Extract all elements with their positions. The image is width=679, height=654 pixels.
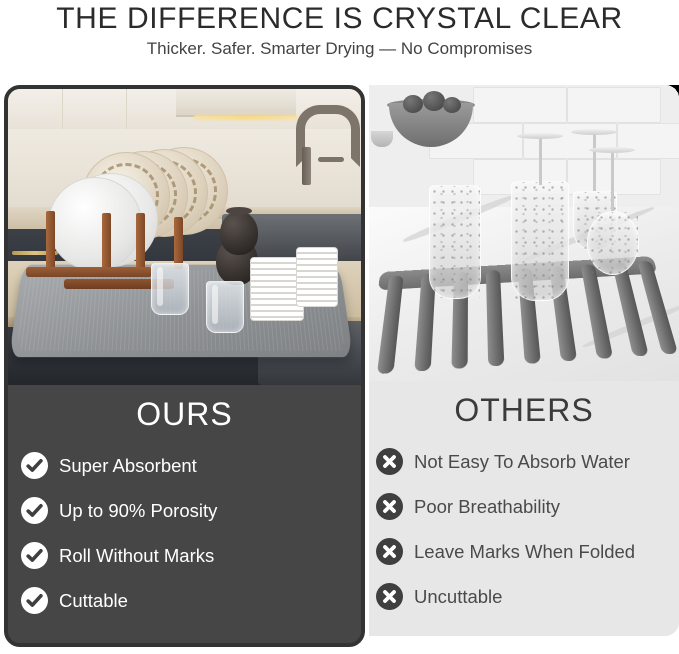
x-circle-icon (376, 538, 403, 565)
water-droplets (430, 186, 480, 298)
check-circle-icon (21, 452, 48, 479)
water-droplets (512, 182, 568, 300)
glass-foot (571, 129, 617, 135)
fruit (423, 91, 445, 111)
ours-panel: OURS Super Absorbent (4, 85, 365, 647)
others-feature-label: Leave Marks When Folded (414, 541, 635, 563)
drinking-glass (151, 263, 189, 315)
subway-tile (567, 87, 661, 123)
glass-foot (517, 133, 563, 139)
rack-post (174, 217, 183, 269)
subway-tile (617, 123, 679, 159)
glass-foot (589, 147, 635, 153)
others-feature-item: Not Easy To Absorb Water (369, 439, 679, 484)
others-label-block: OTHERS Not Easy To Absorb Water (369, 381, 679, 636)
rack-post (136, 213, 145, 271)
glass-stem (611, 151, 614, 211)
glass-stem (593, 133, 596, 191)
x-circle-icon (376, 448, 403, 475)
x-circle-icon (376, 583, 403, 610)
wet-glass (511, 181, 569, 301)
glass-stem (539, 137, 542, 185)
others-feature-label: Uncuttable (414, 586, 502, 608)
rack-rib (486, 270, 505, 367)
rack-rib (377, 276, 404, 375)
ours-label-block: OURS Super Absorbent (8, 385, 361, 647)
comparison-section: OURS Super Absorbent (0, 85, 679, 651)
ours-heading: OURS (8, 393, 361, 435)
subway-tile (567, 159, 661, 195)
ours-feature-item: Up to 90% Porosity (8, 488, 361, 533)
ours-feature-label: Super Absorbent (59, 455, 197, 477)
others-feature-list: Not Easy To Absorb Water Poor Breathabil… (369, 439, 679, 619)
others-feature-item: Uncuttable (369, 574, 679, 619)
rack-rib (581, 264, 613, 359)
rack-post (46, 211, 55, 273)
check-circle-icon (21, 587, 48, 614)
wet-glass (429, 185, 481, 299)
ours-feature-label: Cuttable (59, 590, 128, 612)
ours-feature-item: Super Absorbent (8, 443, 361, 488)
fruit (403, 95, 423, 113)
faucet-lever (318, 157, 344, 162)
drinking-glass (206, 281, 244, 333)
check-circle-icon (21, 542, 48, 569)
x-circle-icon (376, 493, 403, 520)
under-cabinet-light (194, 115, 298, 120)
others-panel: OTHERS Not Easy To Absorb Water (369, 85, 679, 636)
others-feature-label: Poor Breathability (414, 496, 560, 518)
header: THE DIFFERENCE IS CRYSTAL CLEAR Thicker.… (0, 0, 679, 60)
ours-feature-item: Roll Without Marks (8, 533, 361, 578)
white-plate (48, 177, 142, 271)
page-title: THE DIFFERENCE IS CRYSTAL CLEAR (0, 2, 679, 36)
cabinet-seam (126, 89, 127, 129)
stacked-bowls (296, 247, 338, 307)
wet-wine-glass (587, 211, 639, 275)
rack-base (26, 267, 152, 277)
ours-feature-label: Roll Without Marks (59, 545, 214, 567)
fruit (443, 97, 461, 113)
faucet-spout (302, 147, 311, 185)
vase-rim (226, 207, 252, 215)
ceramic-vase (220, 211, 258, 255)
ours-product-photo (8, 89, 361, 385)
ours-feature-item: Cuttable (8, 578, 361, 623)
range-hood (176, 89, 296, 117)
others-feature-item: Leave Marks When Folded (369, 529, 679, 574)
others-feature-label: Not Easy To Absorb Water (414, 451, 630, 473)
ours-feature-list: Super Absorbent Up to 90% Porosity (8, 443, 361, 623)
subway-tile (473, 87, 567, 123)
cabinet-seam (62, 89, 63, 129)
others-feature-item: Poor Breathability (369, 484, 679, 529)
ours-feature-label: Up to 90% Porosity (59, 500, 217, 522)
others-product-photo (369, 85, 679, 381)
rack-post (102, 213, 111, 273)
water-droplets (588, 212, 638, 274)
check-circle-icon (21, 497, 48, 524)
others-heading: OTHERS (369, 389, 679, 431)
page-subtitle: Thicker. Safer. Smarter Drying — No Comp… (0, 38, 679, 60)
